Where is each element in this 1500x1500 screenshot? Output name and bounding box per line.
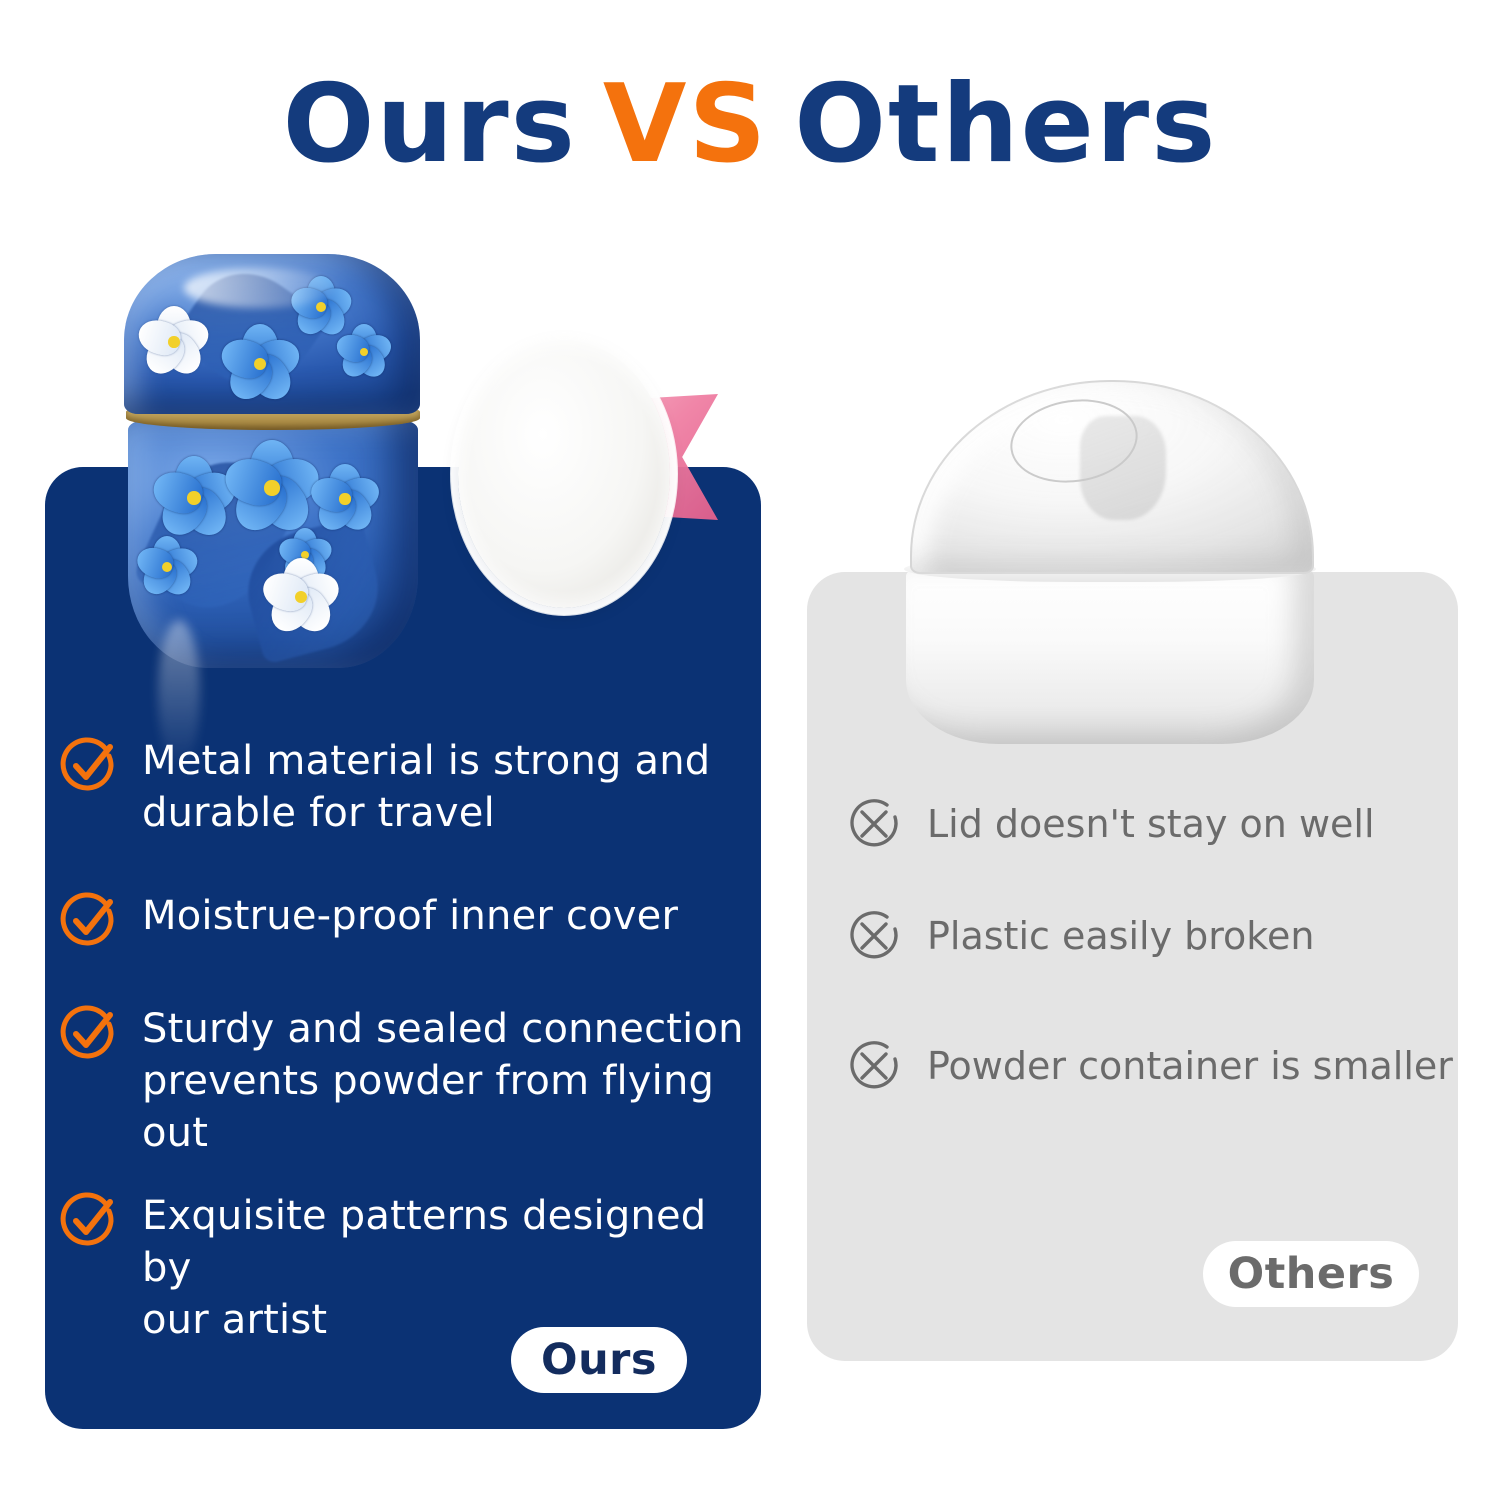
ours-feature-item-3: Sturdy and sealed connection prevents po… [58,1003,758,1159]
check-circle-icon [58,1003,120,1065]
others-drawback-text-1: Lid doesn't stay on well [927,800,1375,848]
ours-feature-text-3: Sturdy and sealed connection prevents po… [142,1003,758,1159]
ours-feature-item-2: Moistrue-proof inner cover [58,890,678,952]
cross-circle-icon [845,795,903,853]
ours-feature-text-1: Metal material is strong and durable for… [142,735,710,839]
title-others: Others [794,62,1217,187]
check-circle-icon [58,890,120,952]
comparison-infographic: OursVSOthers [0,0,1500,1500]
ours-badge: Ours [511,1327,687,1393]
title-ours: Ours [283,62,577,187]
others-product-image [880,370,1342,750]
plastic-container-base [906,568,1314,744]
others-drawback-text-2: Plastic easily broken [927,912,1314,960]
clear-dome-lid [910,380,1314,574]
ours-feature-text-4: Exquisite patterns designed by our artis… [142,1190,758,1346]
tin-lid [124,254,420,414]
ours-feature-text-2: Moistrue-proof inner cover [142,890,678,942]
cross-circle-icon [845,907,903,965]
others-drawback-item-1: Lid doesn't stay on well [845,795,1375,853]
check-circle-icon [58,1190,120,1252]
cross-circle-icon [845,1037,903,1095]
ours-product-image [120,248,740,688]
powder-puff [458,340,670,608]
tin-body [128,420,418,668]
others-drawback-item-2: Plastic easily broken [845,907,1314,965]
others-drawback-text-3: Powder container is smaller [927,1042,1453,1090]
ours-badge-label: Ours [541,1335,657,1385]
others-drawback-item-3: Powder container is smaller [845,1037,1453,1095]
check-circle-icon [58,735,120,797]
others-badge: Others [1203,1241,1419,1307]
ours-feature-item-4: Exquisite patterns designed by our artis… [58,1190,758,1346]
ours-feature-item-1: Metal material is strong and durable for… [58,735,710,839]
title-vs: VS [603,62,768,187]
others-badge-label: Others [1228,1249,1395,1299]
page-title: OursVSOthers [0,62,1500,187]
